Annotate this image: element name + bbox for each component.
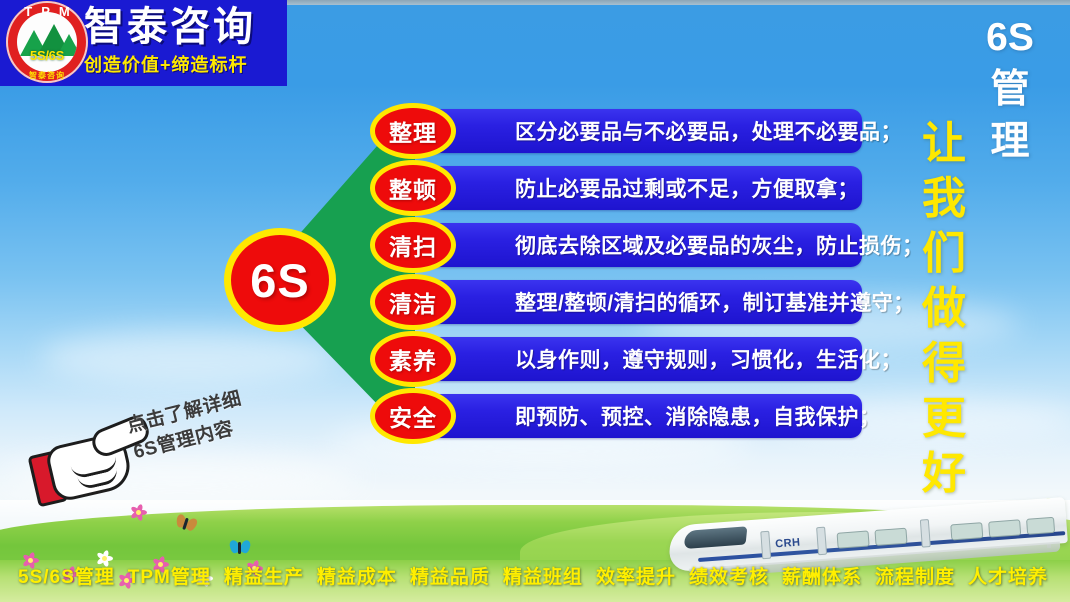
butterfly-icon (230, 540, 250, 556)
keyword: 精益班组 (503, 562, 583, 589)
row-bar[interactable]: 以身作则，遵守规则，习惯化，生活化； (425, 337, 862, 381)
row-badge-label: 素养 (389, 342, 437, 376)
row-badge[interactable]: 清洁 (370, 274, 456, 330)
row-bar[interactable]: 整理/整顿/清扫的循环，制订基准并遵守； (425, 280, 862, 324)
center-6s-badge[interactable]: 6S (224, 228, 336, 332)
row-description: 防止必要品过剩或不足，方便取拿； (515, 166, 850, 210)
row-description: 以身作则，遵守规则，习惯化，生活化； (515, 337, 850, 381)
list-item[interactable]: 整理/整顿/清扫的循环，制订基准并遵守； 清洁 (370, 277, 862, 327)
vertical-title-char: 理 (986, 116, 1034, 168)
row-description: 彻底去除区域及必要品的灰尘，防止损伤； (515, 223, 850, 267)
keyword: 绩效考核 (689, 562, 769, 589)
keyword: 精益生产 (224, 562, 304, 589)
row-badge[interactable]: 整顿 (370, 160, 456, 216)
row-badge-label: 清扫 (389, 228, 437, 262)
row-description: 区分必要品与不必要品，处理不必要品； (515, 109, 850, 153)
brand-name: 智泰咨询 (84, 4, 284, 50)
tpm-logo-icon: TPM 5S/6S 智泰咨询 (6, 1, 88, 83)
vertical-subtitle-char: 们 (918, 226, 970, 281)
six-s-list: 区分必要品与不必要品，处理不必要品； 整理 防止必要品过剩或不足，方便取拿； 整… (370, 106, 862, 446)
vertical-subtitle-char: 得 (918, 336, 970, 391)
center-6s-label: 6S (250, 257, 310, 304)
row-badge[interactable]: 整理 (370, 103, 456, 159)
vertical-subtitle-char: 更 (918, 391, 970, 446)
row-bar[interactable]: 即预防、预控、消除隐患，自我保护； (425, 394, 862, 438)
row-badge[interactable]: 清扫 (370, 217, 456, 273)
vertical-subtitle-char: 让 (918, 116, 970, 171)
bottom-keyword-banner: 5S/6S管理 TPM管理 精益生产 精益成本 精益品质 精益班组 效率提升 绩… (0, 558, 1070, 592)
brand-slogan: 创造价值+缔造标杆 (84, 52, 284, 78)
row-bar[interactable]: 彻底去除区域及必要品的灰尘，防止损伤； (425, 223, 862, 267)
keyword: 精益品质 (410, 562, 490, 589)
list-item[interactable]: 以身作则，遵守规则，习惯化，生活化； 素养 (370, 334, 862, 384)
crh-logo-text: CRH (775, 536, 801, 550)
list-item[interactable]: 彻底去除区域及必要品的灰尘，防止损伤； 清扫 (370, 220, 862, 270)
company-logo-banner: TPM 5S/6S 智泰咨询 智泰咨询 创造价值+缔造标杆 (0, 0, 287, 86)
row-badge[interactable]: 素养 (370, 331, 456, 387)
list-item[interactable]: 区分必要品与不必要品，处理不必要品； 整理 (370, 106, 862, 156)
keyword: 精益成本 (317, 562, 397, 589)
keyword: 人才培养 (968, 562, 1048, 589)
row-badge-label: 整理 (389, 114, 437, 148)
list-item[interactable]: 即预防、预控、消除隐患，自我保护； 安全 (370, 391, 862, 441)
vertical-subtitle-char: 做 (918, 281, 970, 336)
row-description: 即预防、预控、消除隐患，自我保护； (515, 394, 850, 438)
slide-canvas: CRH TPM 5S/6S 智泰咨询 智泰咨询 创造价值+缔造标杆 6S (0, 0, 1070, 602)
row-badge-label: 清洁 (389, 285, 437, 319)
row-bar[interactable]: 区分必要品与不必要品，处理不必要品； (425, 109, 862, 153)
row-badge[interactable]: 安全 (370, 388, 456, 444)
vertical-title: 6S 管 理 (986, 12, 1034, 168)
list-item[interactable]: 防止必要品过剩或不足，方便取拿； 整顿 (370, 163, 862, 213)
keyword: TPM管理 (128, 562, 211, 589)
flower-icon (130, 504, 146, 520)
vertical-title-char: 管 (986, 64, 1034, 116)
row-badge-label: 安全 (389, 399, 437, 433)
keyword: 5S/6S管理 (18, 562, 115, 589)
vertical-subtitle-char: 好 (918, 446, 970, 501)
row-bar[interactable]: 防止必要品过剩或不足，方便取拿； (425, 166, 862, 210)
keyword: 效率提升 (596, 562, 676, 589)
keyword: 薪酬体系 (782, 562, 862, 589)
logo-center-text: 5S/6S (17, 48, 77, 63)
row-description: 整理/整顿/清扫的循环，制订基准并遵守； (515, 280, 850, 324)
vertical-title-char: 6S (986, 12, 1034, 64)
keyword: 流程制度 (875, 562, 955, 589)
vertical-subtitle: 让 我 们 做 得 更 好 (918, 116, 970, 501)
logo-arc-text: 智泰咨询 (6, 70, 88, 81)
vertical-subtitle-char: 我 (918, 171, 970, 226)
row-badge-label: 整顿 (389, 171, 437, 205)
